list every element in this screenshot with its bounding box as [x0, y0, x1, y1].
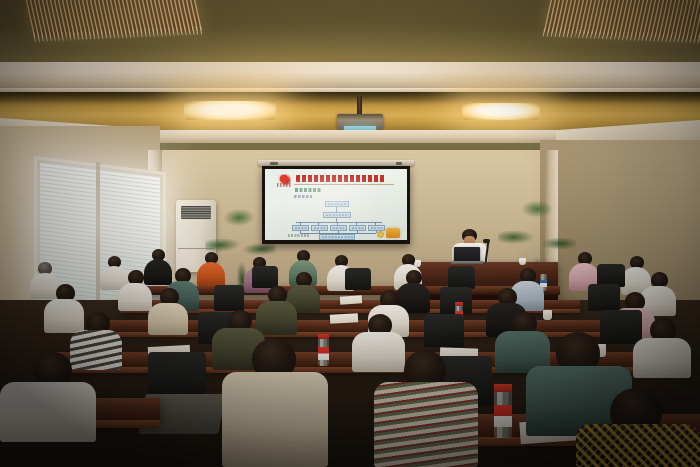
attendee-body-r1-2 — [374, 382, 478, 467]
attendee-body-r2-1 — [70, 330, 122, 370]
audience-chair-r4-2[interactable] — [345, 268, 371, 290]
flowchart-riser-2 — [319, 231, 320, 233]
attendee-body-r1-1 — [222, 372, 328, 467]
audience-chair-r1-1[interactable] — [148, 352, 206, 400]
coffer-shadow — [0, 92, 700, 104]
crystal-chandelier-left-icon — [23, 0, 202, 38]
laptop-base — [451, 261, 483, 264]
slide-title-underline — [294, 184, 394, 185]
conference-room-photo — [0, 0, 700, 467]
document-r4-1 — [340, 295, 363, 305]
audience-chair-r2-3[interactable] — [600, 310, 642, 344]
paper-cup-front-right — [519, 258, 526, 265]
laptop[interactable] — [454, 247, 480, 262]
audience-chair-r4-1[interactable] — [252, 266, 278, 288]
slide-badge-dot-icon — [377, 231, 384, 238]
audience-chair-r3-3[interactable] — [588, 284, 620, 311]
flowchart-box-l4-1 — [319, 234, 355, 240]
paper-cup-r3-1 — [543, 310, 552, 320]
water-bottle-label-foreground — [494, 405, 512, 427]
attendee-body-r3-1 — [44, 299, 84, 333]
water-bottle-label-r2-1 — [318, 347, 329, 360]
attendee-body-r3-3 — [256, 301, 297, 335]
attendee-body-r4-1 — [118, 283, 152, 311]
attendee-body-r5-3 — [144, 259, 172, 285]
audience-chair-r3-1[interactable] — [214, 285, 244, 311]
water-bottle-cap-foreground — [494, 384, 512, 392]
attendee-body-r2-5 — [633, 338, 691, 378]
slide-section-label — [294, 195, 312, 198]
water-bottle-cap-r3-1 — [455, 302, 463, 306]
flowchart-riser-1 — [300, 231, 301, 233]
flowchart-bus-top — [296, 222, 382, 223]
ceiling-light-right-icon — [462, 103, 540, 120]
audience-chair-r4-3[interactable] — [448, 266, 475, 289]
ceiling-light-left-icon — [184, 101, 276, 120]
attendee-body-r5-4 — [197, 262, 225, 287]
attendee-body-r1-4 — [576, 424, 700, 467]
flowchart-riser-3 — [338, 231, 339, 233]
document-r3-1 — [330, 313, 358, 323]
attendee-body-r3-2 — [148, 303, 188, 335]
screen-case-bracket-left — [270, 162, 278, 165]
attendee-body-r1-5 — [0, 382, 96, 442]
microphone-icon — [483, 239, 490, 243]
attendee-body-r2-3 — [352, 332, 405, 372]
screen-case-bracket-right — [396, 162, 402, 165]
flowchart-box-l1-1 — [325, 201, 349, 207]
slide-subtitle-text — [295, 188, 321, 192]
water-bottle-cap-r2-1 — [318, 334, 329, 339]
slide-footer-text — [288, 234, 310, 237]
slide-title-text — [296, 175, 386, 182]
slide-logo-caption — [277, 183, 292, 187]
flowchart-box-l2-1 — [323, 212, 351, 218]
flowchart-riser-4 — [357, 231, 358, 233]
slide-badge-icon — [386, 228, 400, 238]
crystal-chandelier-right-icon — [543, 0, 700, 40]
audience-chair-r2-2[interactable] — [424, 314, 464, 347]
